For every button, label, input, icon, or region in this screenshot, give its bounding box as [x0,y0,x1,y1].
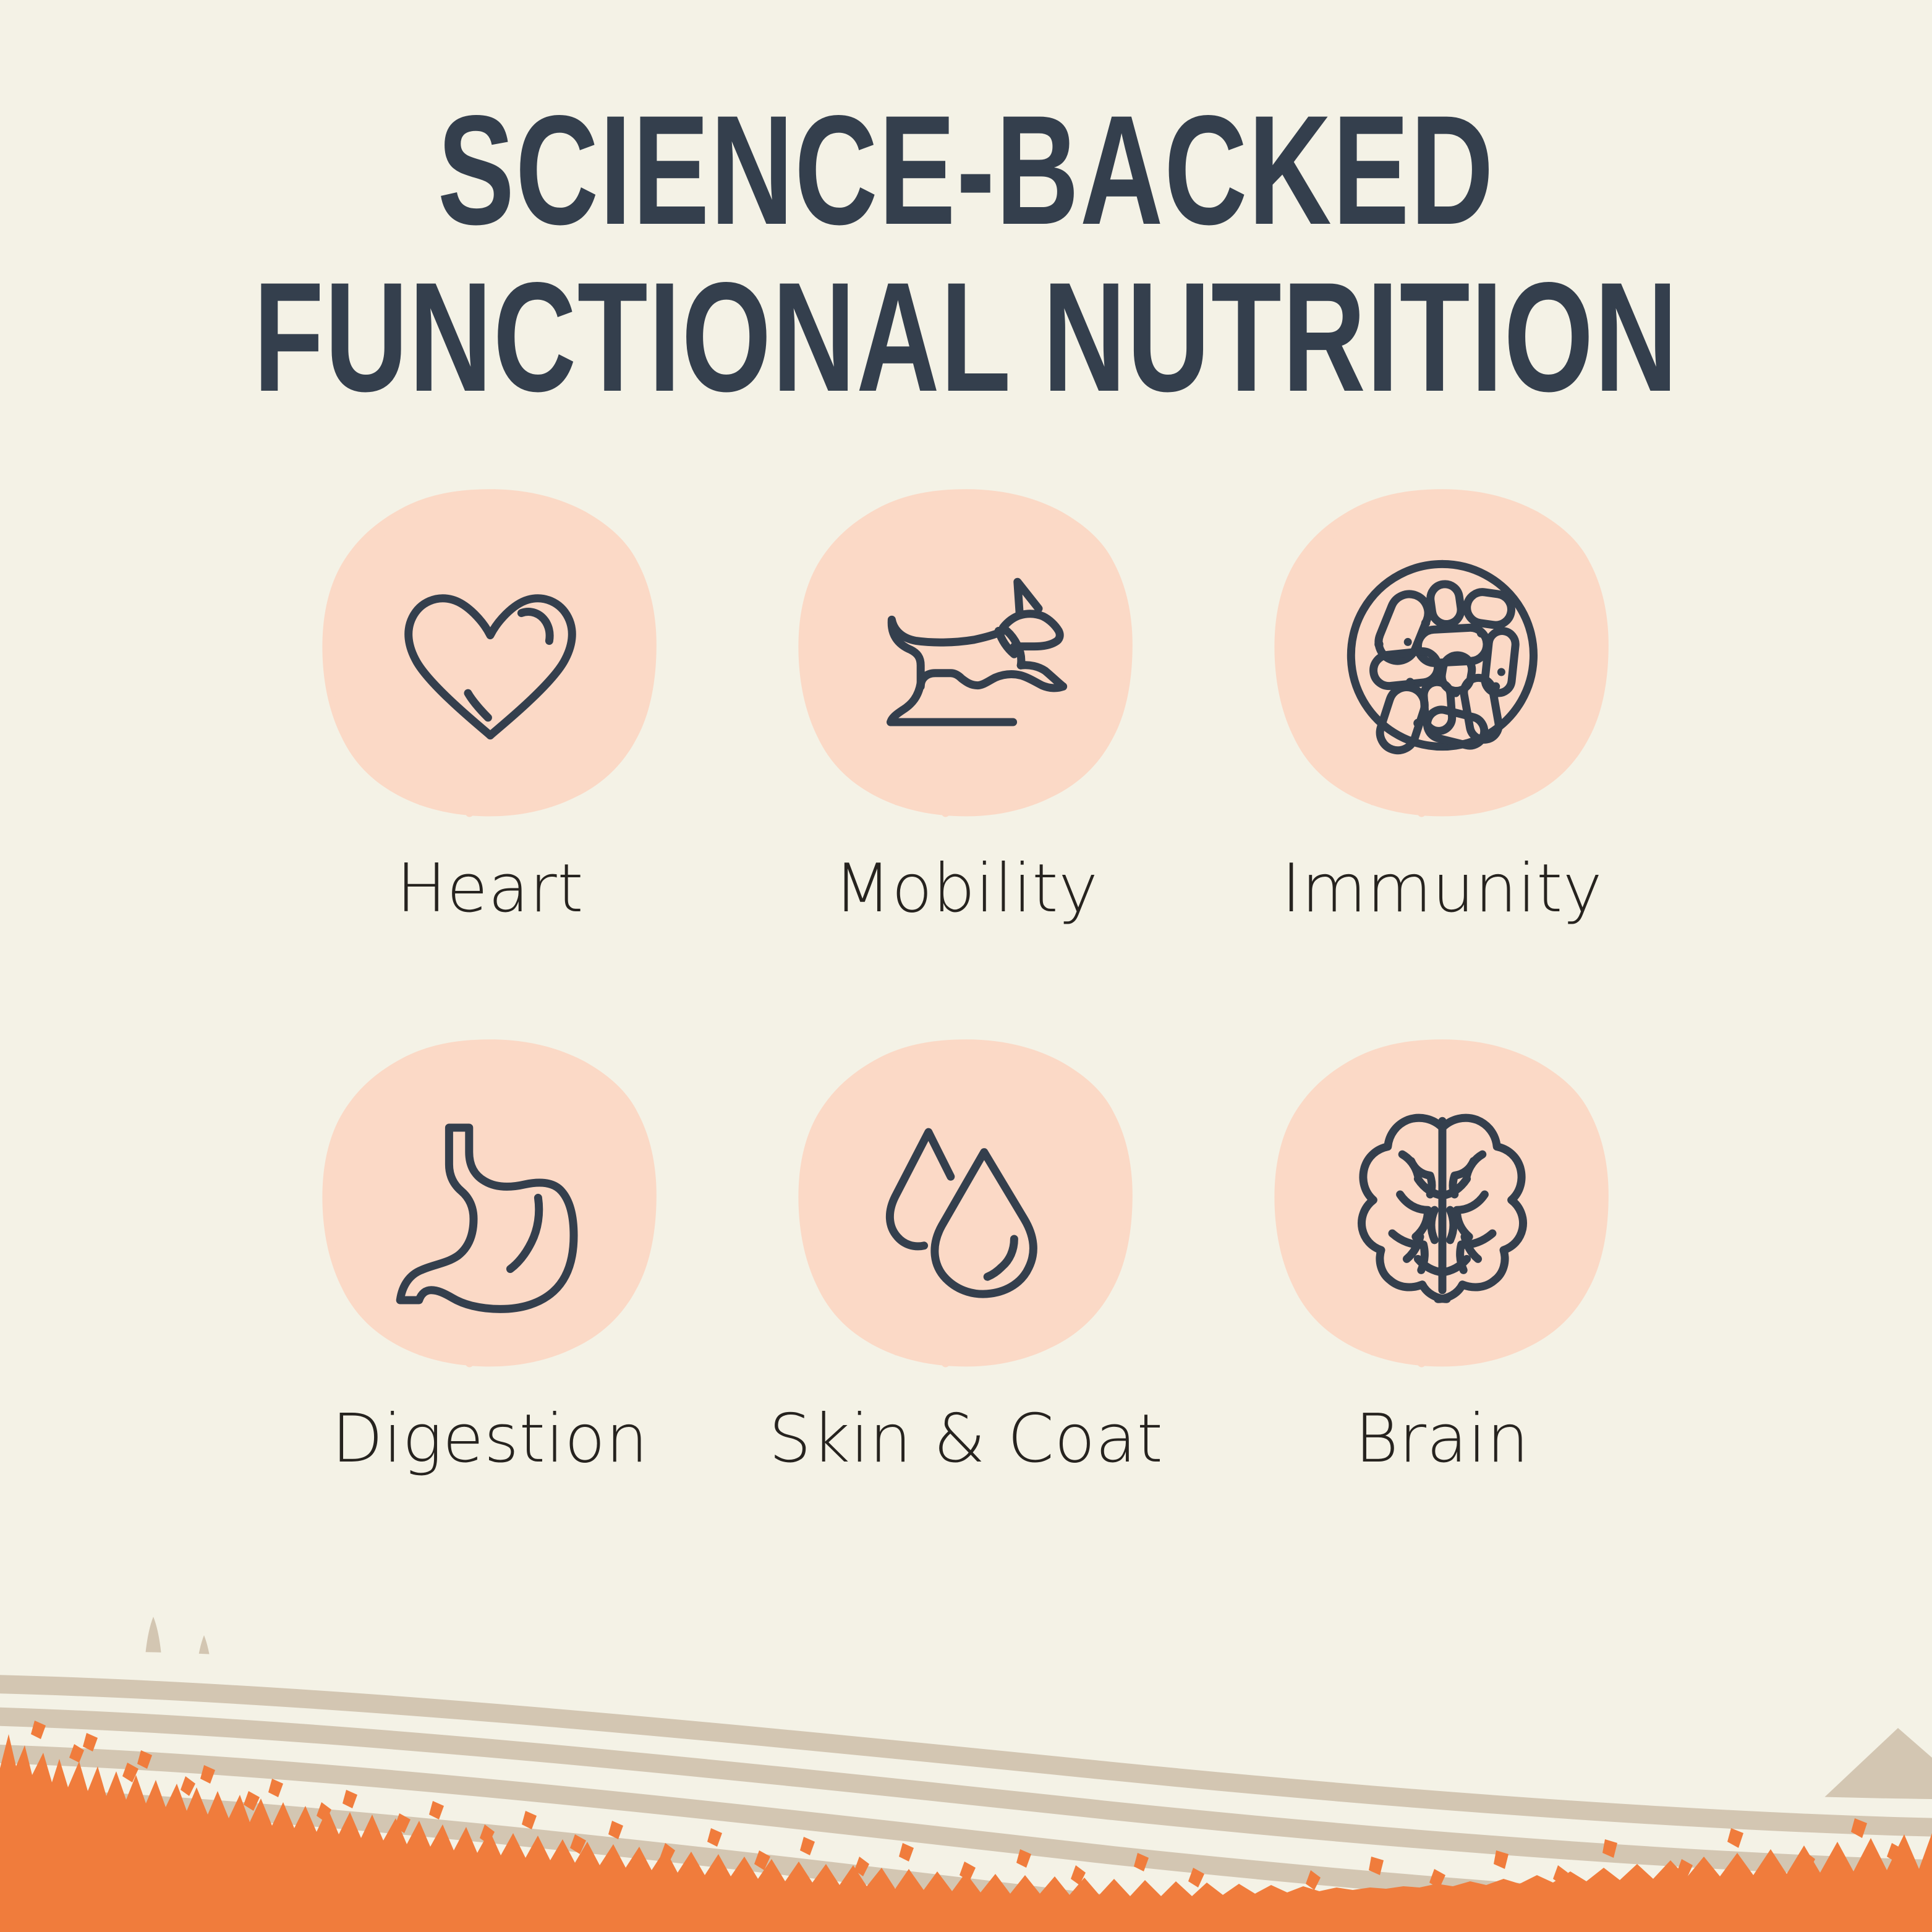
stomach-icon [379,1094,602,1317]
benefit-item-skin-coat[interactable]: Skin & Coat [728,1032,1204,1478]
icon-badge [1269,482,1615,828]
title-line-primary: SCIENCE-BACKED [251,93,1681,249]
benefits-row: Heart [0,482,1932,927]
benefit-item-heart[interactable]: Heart [252,482,728,927]
water-drops-icon [855,1094,1078,1317]
cell-culture-icon [1331,544,1554,767]
benefits-grid: Heart [0,482,1932,1478]
farm-field-illustration [0,1549,1932,1932]
benefit-item-immunity[interactable]: Immunity [1204,482,1680,927]
page-title: SCIENCE-BACKED FUNCTIONAL NUTRITION [0,93,1932,415]
icon-badge [317,482,663,828]
benefits-row: Digestion [0,1032,1932,1478]
icon-badge [1269,1032,1615,1379]
running-dog-icon [855,544,1078,767]
benefit-label: Digestion [331,1401,648,1478]
benefit-label: Immunity [1282,851,1602,927]
benefit-item-brain[interactable]: Brain [1204,1032,1680,1478]
heart-icon [379,544,602,767]
benefit-label: Heart [396,851,584,927]
brain-icon [1331,1094,1554,1317]
title-line-secondary: FUNCTIONAL NUTRITION [251,260,1681,415]
benefit-label: Skin & Coat [769,1401,1164,1478]
icon-badge [793,1032,1139,1379]
benefit-item-mobility[interactable]: Mobility [728,482,1204,927]
benefit-label: Brain [1355,1401,1529,1478]
benefit-item-digestion[interactable]: Digestion [252,1032,728,1478]
infographic-poster: SCIENCE-BACKED FUNCTIONAL NUTRITION [0,0,1932,1932]
benefit-label: Mobility [833,851,1098,927]
icon-badge [317,1032,663,1379]
icon-badge [793,482,1139,828]
